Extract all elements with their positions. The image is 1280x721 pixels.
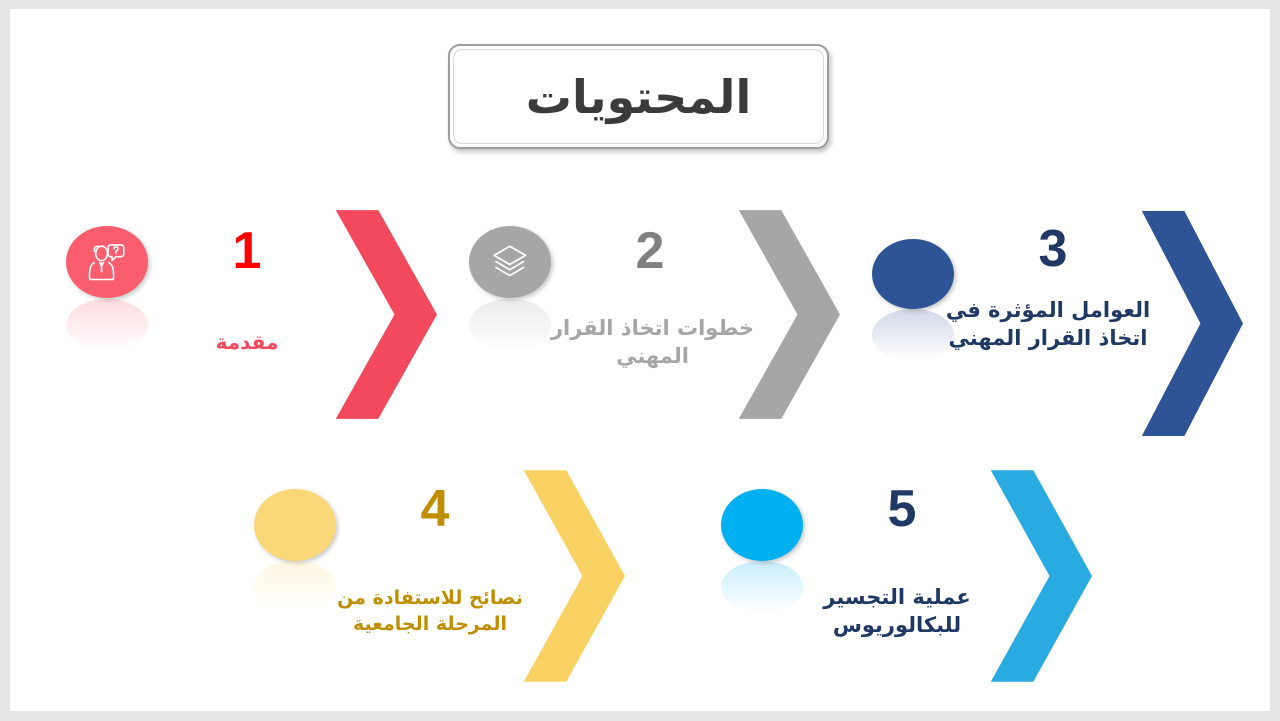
item-2-number: 2 [590,225,710,277]
item-5-circle [721,489,803,561]
item-4-circle [254,489,336,561]
content-item-2[interactable]: 2 خطوات اتخاذ القرار المهني [465,201,840,428]
item-1-circle [66,226,148,298]
item-4-number: 4 [375,483,495,535]
content-item-4[interactable]: 4 نصائح للاستفادة من المرحلة الجامعية [250,461,625,691]
slide-canvas: المحتويات 1 مقدمة [10,9,1270,711]
item-5-label: عملية التجسير للبكالوريوس [792,583,1002,640]
content-item-3[interactable]: 3 العوامل المؤثرة في اتخاذ القرار المهني [868,201,1243,446]
slide-frame: المحتويات 1 مقدمة [0,0,1280,721]
slide-title-box: المحتويات [448,44,829,149]
item-4-label: نصائح للاستفادة من المرحلة الجامعية [315,586,545,637]
item-5-number: 5 [842,483,962,535]
item-3-number: 3 [993,223,1113,275]
item-2-label: خطوات اتخاذ القرار المهني [550,314,755,371]
item-1-label: مقدمة [157,329,337,356]
item-2-circle [469,226,551,298]
content-item-1[interactable]: 1 مقدمة [62,201,437,428]
content-item-5[interactable]: 5 عملية التجسير للبكالوريوس [717,461,1092,691]
item-3-label: العوامل المؤثرة في اتخاذ القرار المهني [940,296,1156,353]
layers-stack-icon [486,241,534,283]
person-question-icon [83,241,131,283]
item-1-number: 1 [187,225,307,277]
page-title: المحتويات [526,74,751,120]
